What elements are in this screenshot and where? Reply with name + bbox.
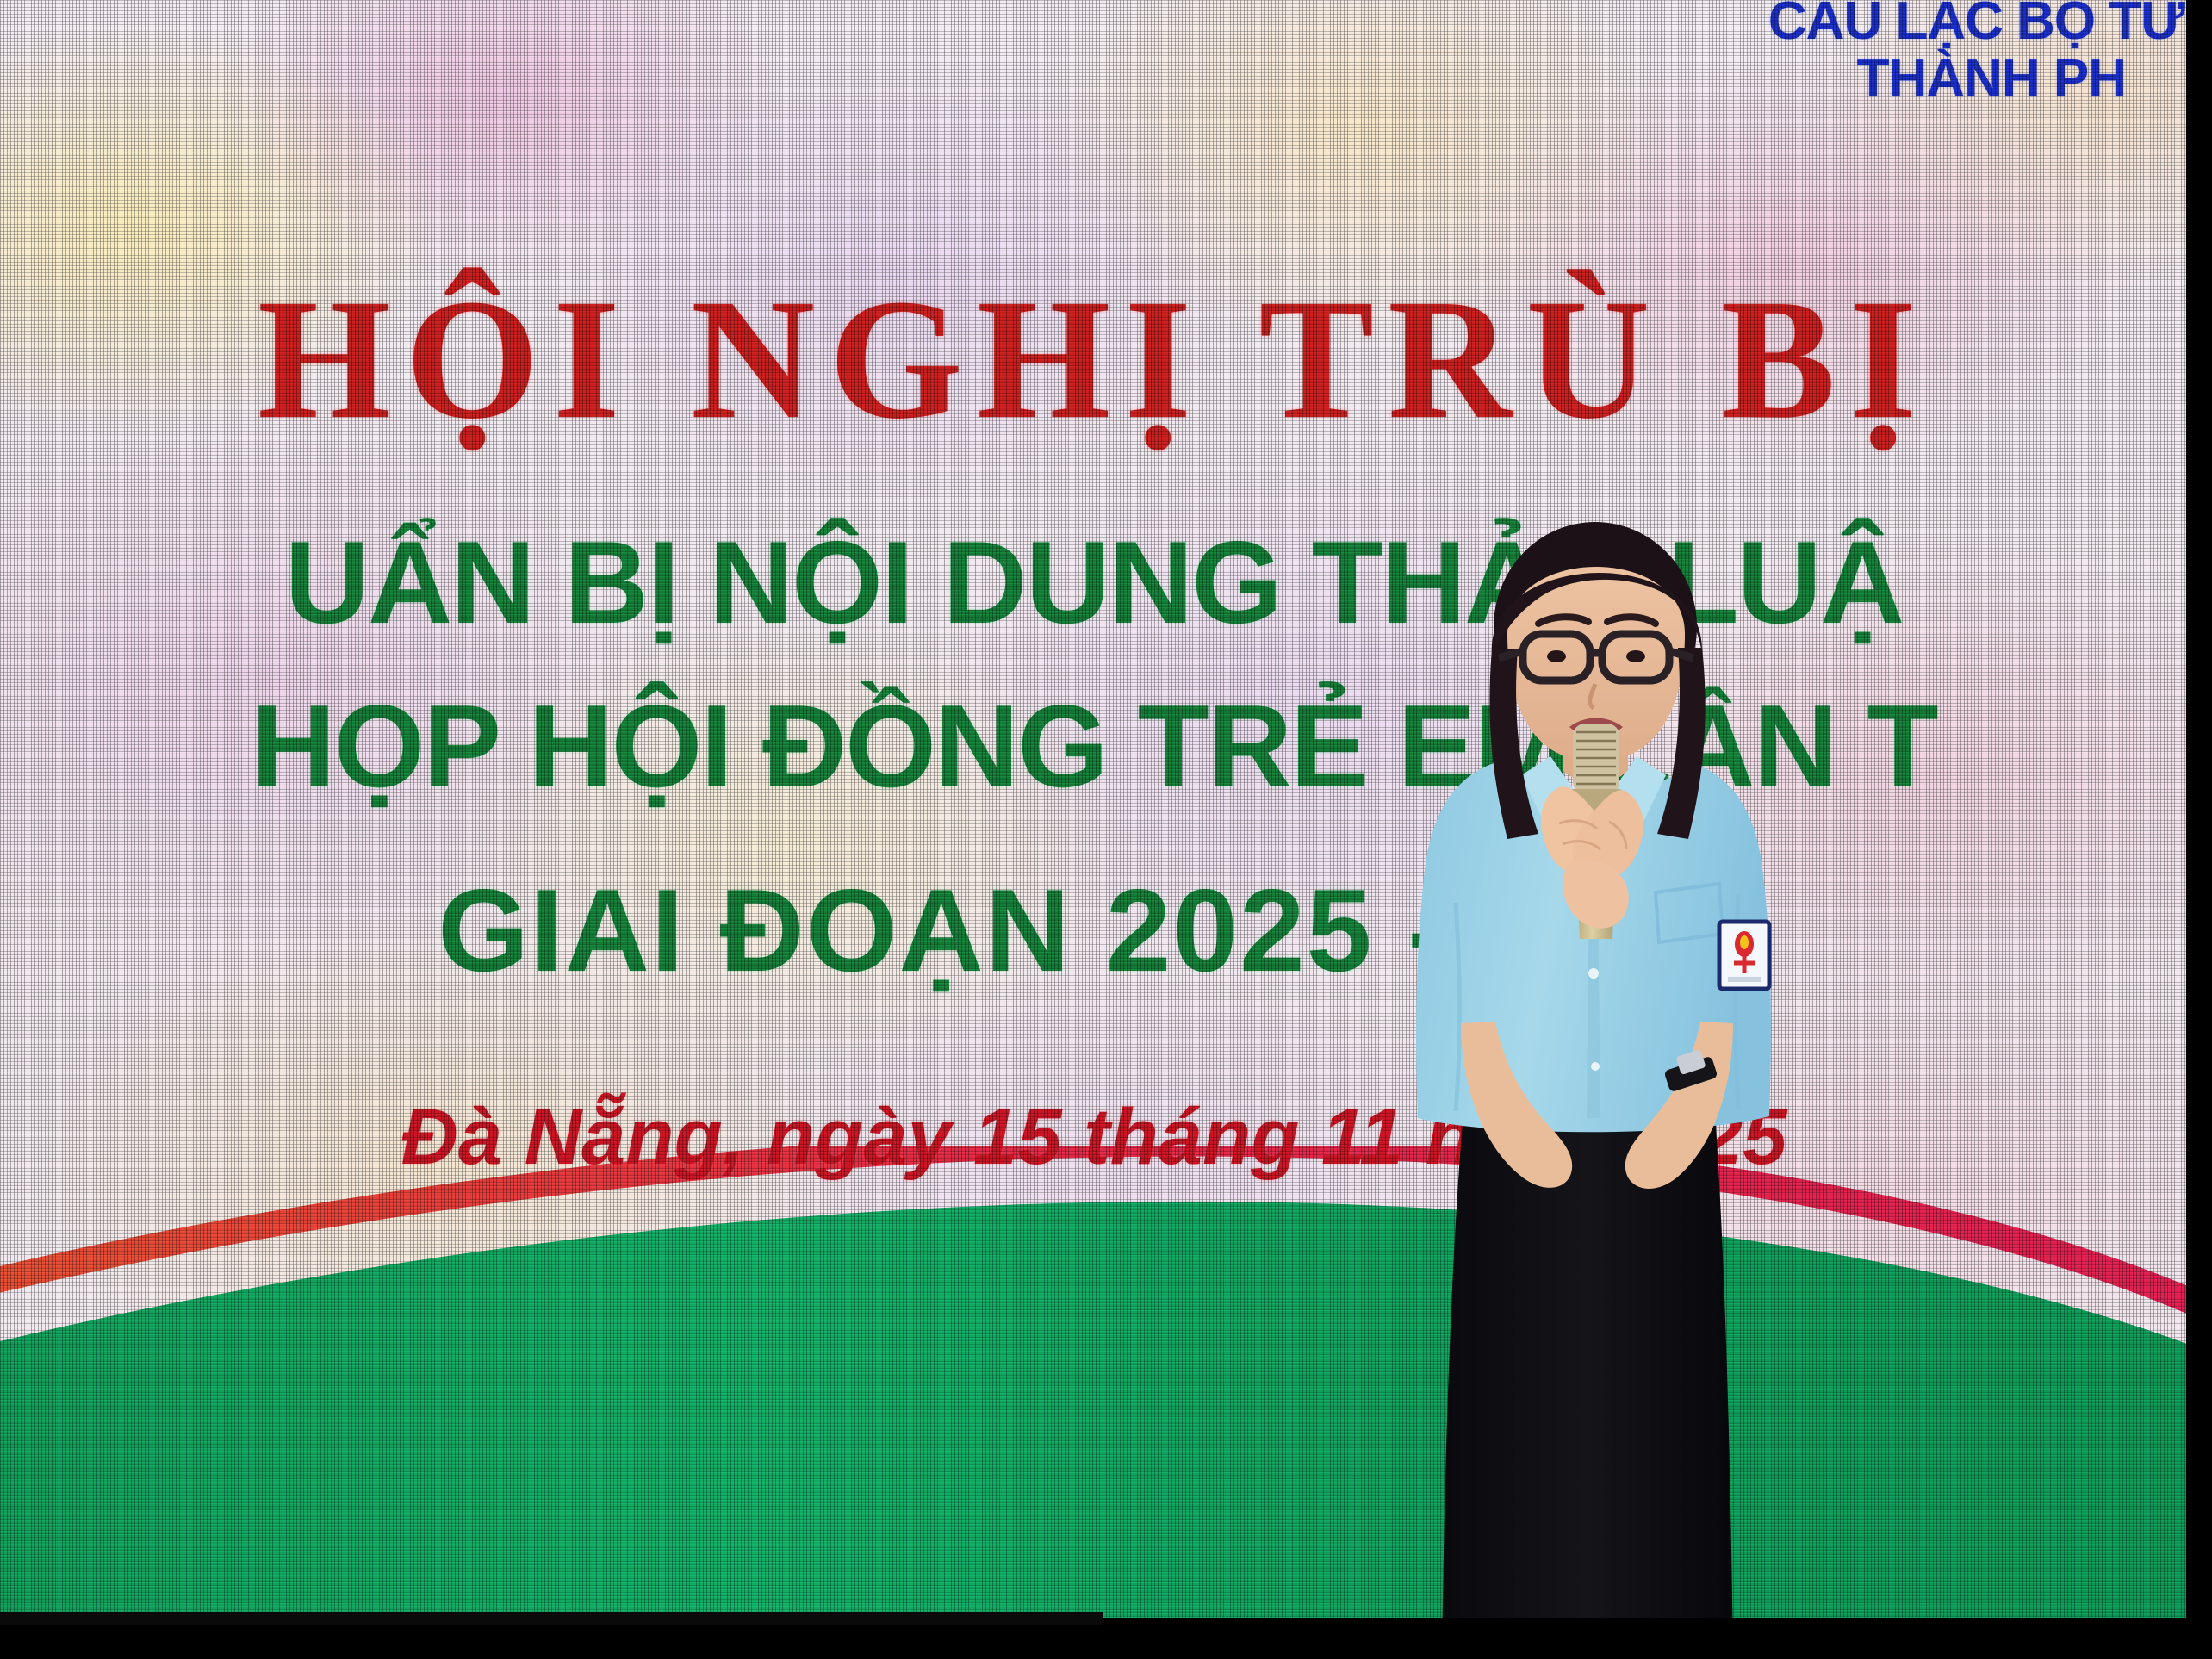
- stage-hill-decoration: [0, 1146, 2188, 1619]
- organizer-line-1: CÂU LẠC BỘ TƯ VẤ: [1768, 0, 2188, 51]
- youth-union-badge: [1719, 922, 1769, 989]
- banner-subtitle-line-3: GIAI ĐOẠN 2025 - 2026: [0, 872, 2188, 989]
- speaker-person: [1382, 618, 1812, 1659]
- screen-frame-bottom-left: [0, 1612, 1103, 1625]
- speaker-skirt: [1442, 1101, 1733, 1659]
- organizer-header: CÂU LẠC BỘ TƯ VẤ THÀNH PH: [1768, 0, 2188, 109]
- screen-frame-right: [2186, 0, 2212, 1659]
- banner-title-red: HỘI NGHỊ TRÙ BỊ: [0, 274, 2188, 446]
- led-wall-backdrop: CÂU LẠC BỘ TƯ VẤ THÀNH PH HỘI NGHỊ TRÙ B…: [0, 0, 2188, 1619]
- banner-subtitle-line-1: UẨN BỊ NỘI DUNG THẢO LUẬ: [0, 524, 2188, 641]
- banner-date-line: Đà Nẵng, ngày 15 tháng 11 năm 2025: [0, 1092, 2188, 1183]
- screenshot-stage: CÂU LẠC BỘ TƯ VẤ THÀNH PH HỘI NGHỊ TRÙ B…: [0, 0, 2212, 1659]
- organizer-line-2: THÀNH PH: [1768, 51, 2188, 109]
- banner-subtitle-line-2: HỌP HỘI ĐỒNG TRẺ EM LẦN T: [0, 687, 2188, 805]
